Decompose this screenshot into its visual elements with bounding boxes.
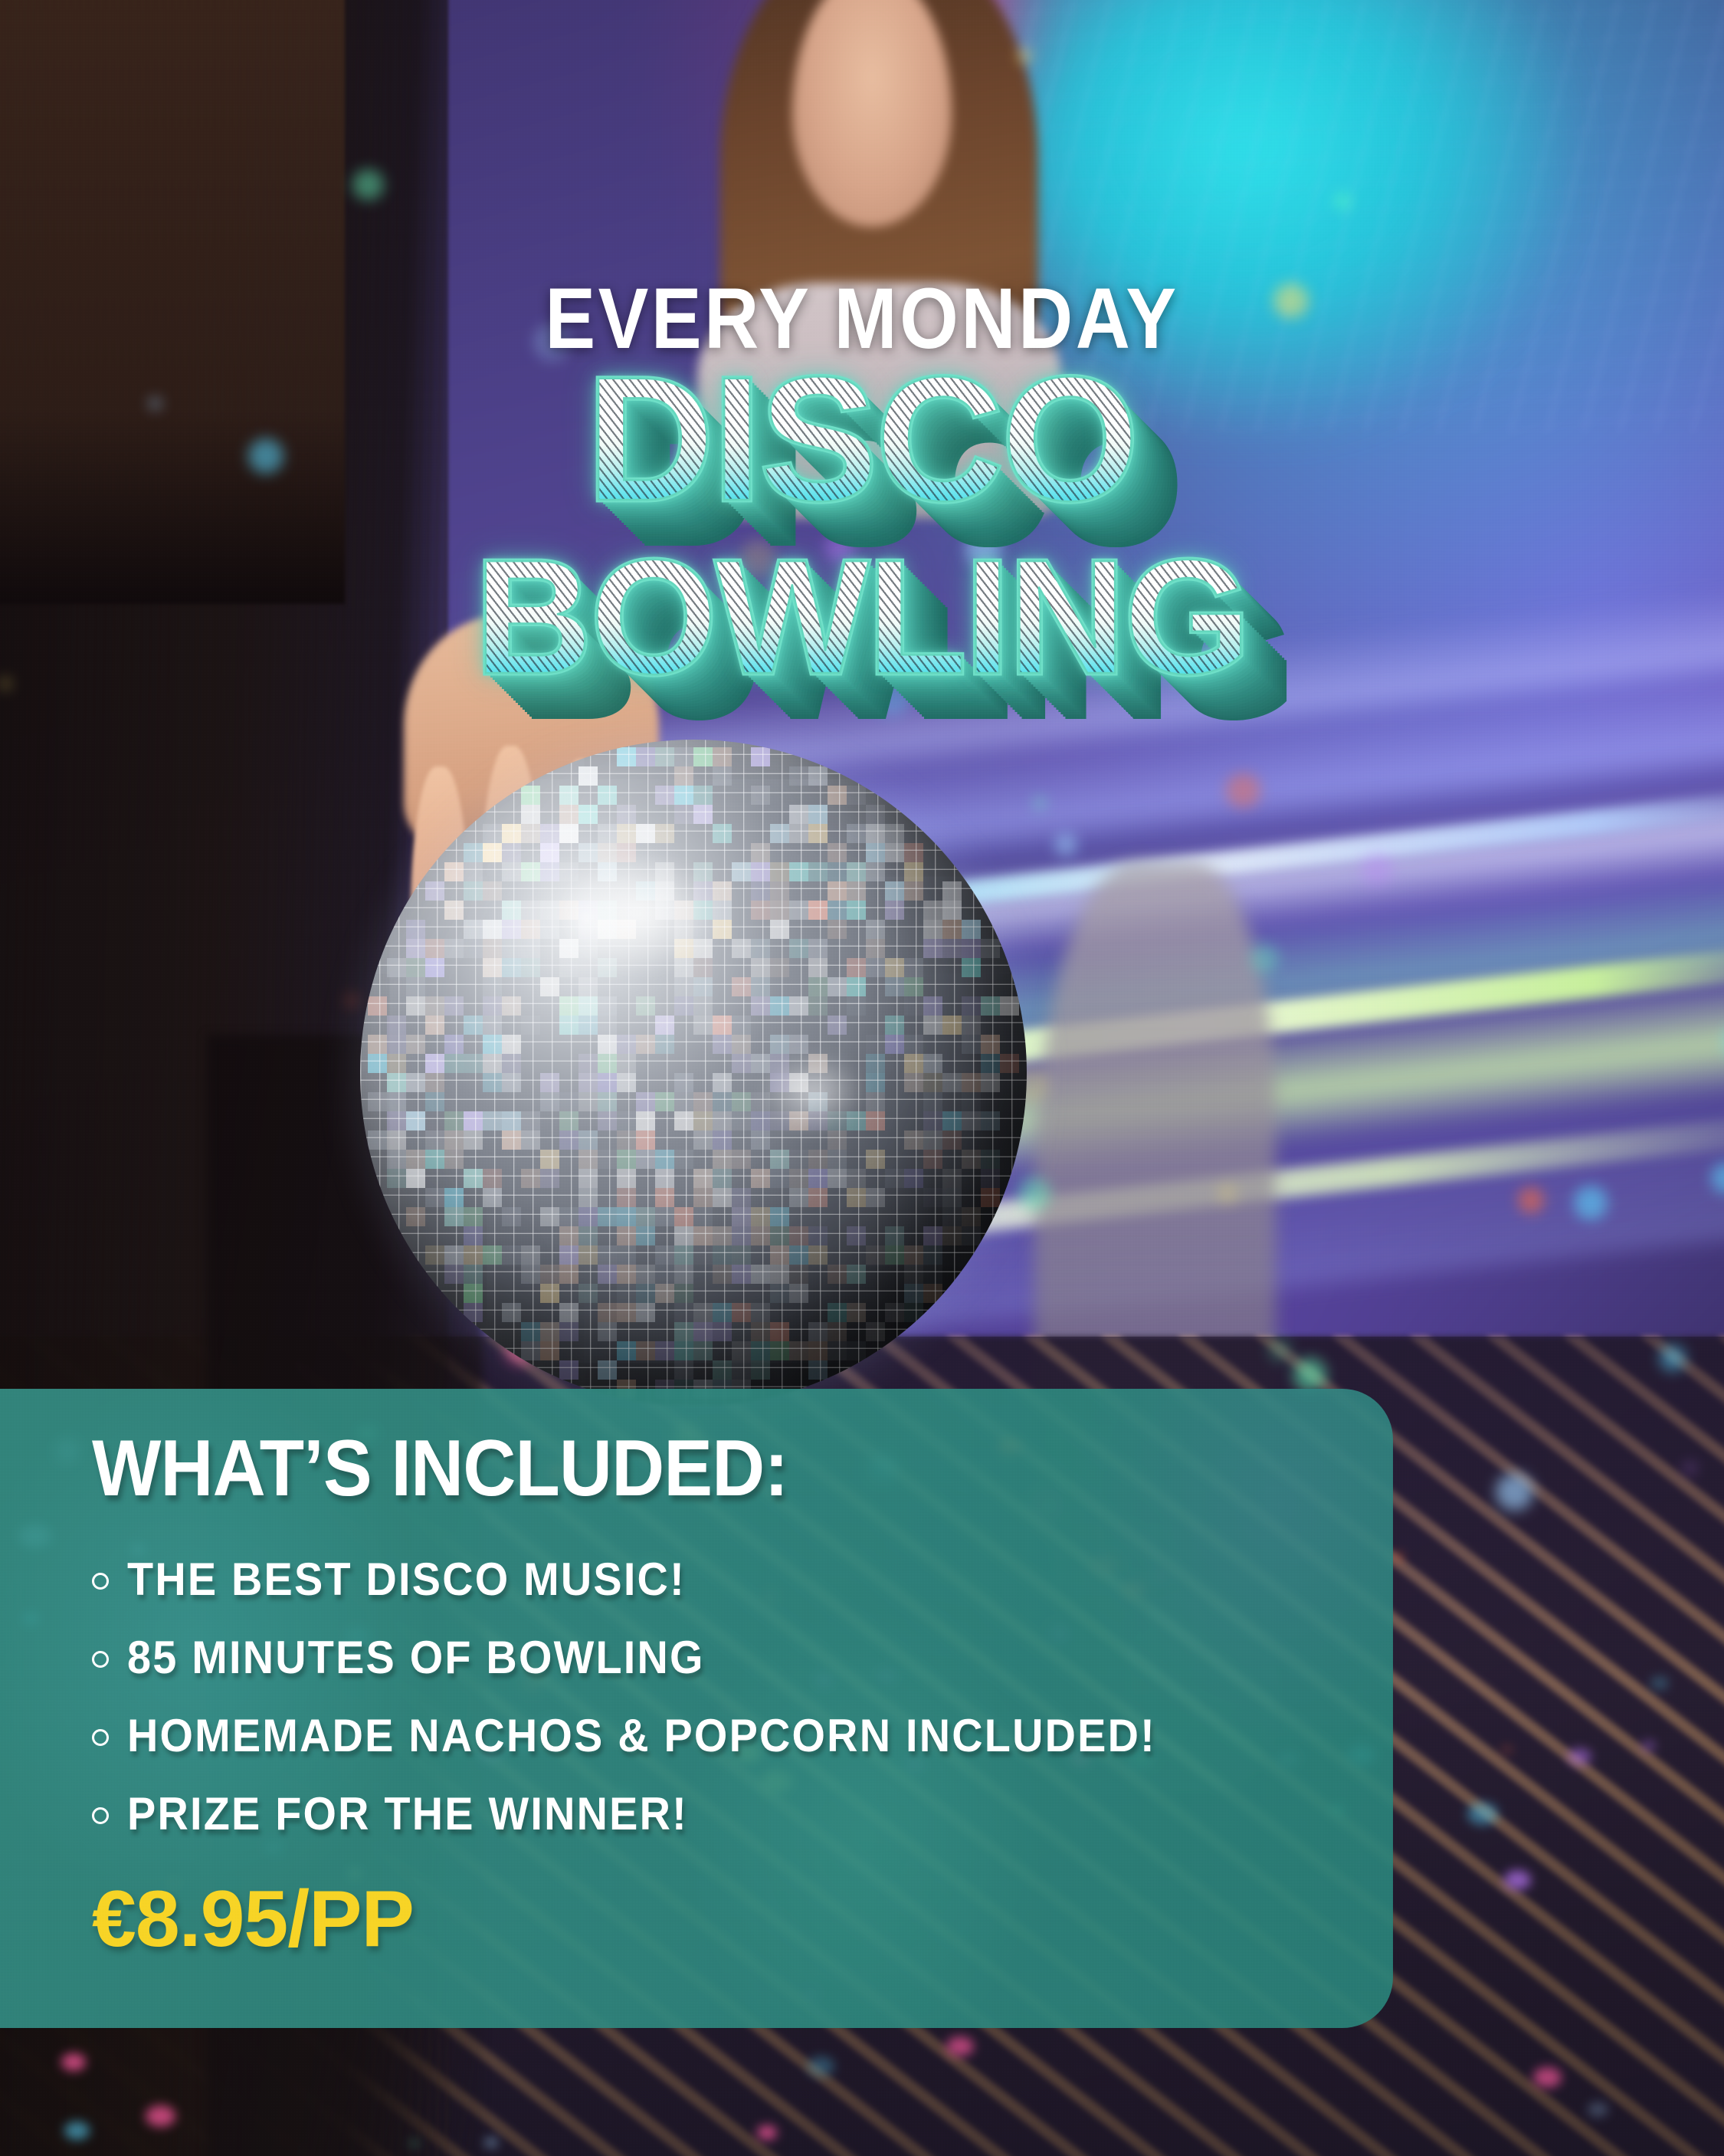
poster-canvas: EVERY MONDAY DISCO DISCO DISCO DISCO BOW… <box>0 0 1724 2156</box>
whats-included-panel: WHAT’S INCLUDED: THE BEST DISCO MUSIC! 8… <box>0 1389 1393 2028</box>
feature-item: 85 MINUTES OF BOWLING <box>92 1625 1393 1691</box>
feature-item: HOMEMADE NACHOS & POPCORN INCLUDED! <box>92 1703 1393 1769</box>
disco-ball <box>360 740 1027 1406</box>
price-label: €8.95/PP <box>92 1879 1393 1959</box>
panel-heading: WHAT’S INCLUDED: <box>92 1429 1289 1508</box>
circle-bullet-icon <box>92 1651 109 1668</box>
woman-face <box>792 0 952 227</box>
title-bowling-outline: BOWLING <box>0 546 1724 689</box>
circle-bullet-icon <box>92 1573 109 1590</box>
feature-item: PRIZE FOR THE WINNER! <box>92 1781 1393 1847</box>
feature-label: 85 MINUTES OF BOWLING <box>127 1635 705 1681</box>
disco-ball-sphere <box>360 740 1027 1406</box>
circle-bullet-icon <box>92 1807 109 1824</box>
feature-label: PRIZE FOR THE WINNER! <box>127 1791 688 1837</box>
feature-label: THE BEST DISCO MUSIC! <box>127 1557 686 1603</box>
feature-item: THE BEST DISCO MUSIC! <box>92 1547 1393 1613</box>
title-disco-outline: DISCO <box>0 362 1724 517</box>
ball-shading <box>360 740 1027 1406</box>
feature-label: HOMEMADE NACHOS & POPCORN INCLUDED! <box>127 1713 1156 1759</box>
circle-bullet-icon <box>92 1729 109 1746</box>
